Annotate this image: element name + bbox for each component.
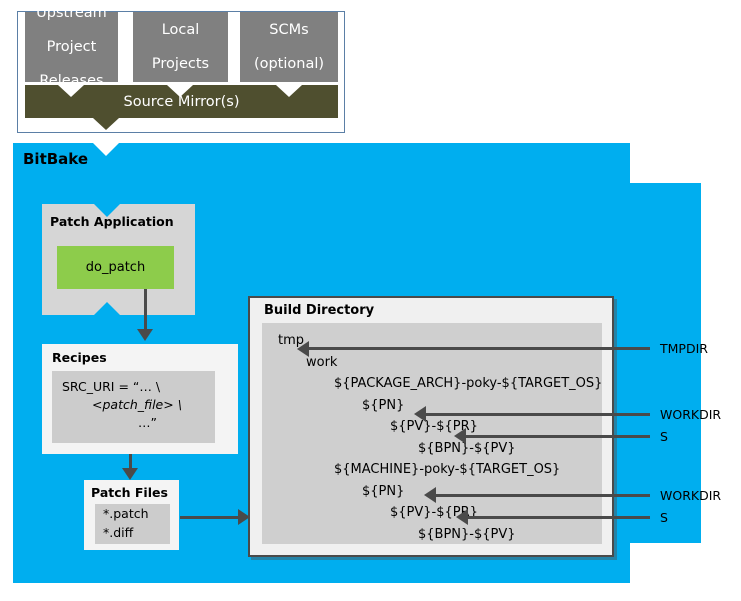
tree-node-package-arch: ${PACKAGE_ARCH}-poky-${TARGET_OS}	[262, 373, 602, 395]
recipes-src-uri-snippet: SRC_URI = “… \ <patch_file> \ …”	[52, 371, 215, 443]
diagram-canvas: Upstream Project Releases Local Projects…	[0, 0, 741, 601]
arrow-left-icon	[456, 509, 468, 525]
patch-files-list: *.patch *.diff	[95, 504, 170, 544]
chevron-notch-icon	[58, 85, 84, 97]
recipes-code-line: SRC_URI = “… \	[52, 378, 215, 396]
source-box-local-projects: Local Projects	[133, 12, 228, 82]
source-box-line: Projects	[152, 56, 209, 73]
annotation-line	[300, 347, 650, 350]
arrow-down-icon	[122, 468, 138, 480]
chevron-notch-icon	[276, 85, 302, 97]
tree-node-bpn-pv: ${BPN}-${PV}	[262, 524, 602, 546]
source-box-scms-optional: SCMs (optional)	[240, 12, 338, 82]
tree-node-machine: ${MACHINE}-poky-${TARGET_OS}	[262, 459, 602, 481]
do-patch-task[interactable]: do_patch	[57, 246, 174, 289]
source-box-line: Upstream	[36, 5, 107, 22]
list-item: *.diff	[103, 523, 170, 542]
tree-node-pv-pr: ${PV}-${PR}	[262, 502, 602, 524]
annotation-label-workdir: WORKDIR	[660, 488, 721, 503]
arrow-left-icon	[424, 487, 436, 503]
recipes-code-line: …”	[52, 414, 215, 432]
annotation-label-tmpdir: TMPDIR	[660, 341, 708, 356]
patch-files-title: Patch Files	[91, 485, 168, 500]
bitbake-label: BitBake	[23, 150, 88, 168]
arrow-down-icon	[137, 329, 153, 341]
patch-application-title: Patch Application	[50, 214, 174, 229]
annotation-label-s: S	[660, 510, 668, 525]
mirror-to-bitbake-arrow-icon	[93, 118, 119, 130]
chevron-notch-icon	[167, 85, 193, 97]
tree-node-work: work	[262, 352, 602, 374]
recipes-code-line: <patch_file> \	[52, 396, 215, 414]
connector-line	[144, 289, 147, 331]
arrow-left-icon	[297, 341, 309, 357]
annotation-line	[420, 413, 650, 416]
connector-line	[180, 516, 240, 519]
build-directory-tree: tmp work ${PACKAGE_ARCH}-poky-${TARGET_O…	[262, 323, 602, 544]
annotation-line	[460, 435, 650, 438]
recipes-title: Recipes	[52, 350, 107, 365]
do-patch-label: do_patch	[86, 260, 145, 275]
source-box-line: Local	[152, 22, 209, 39]
chevron-notch-icon	[93, 143, 119, 156]
source-box-upstream-project-releases: Upstream Project Releases	[25, 12, 118, 82]
arrow-left-icon	[414, 406, 426, 422]
source-box-line: SCMs	[254, 22, 324, 39]
annotation-line	[430, 494, 650, 497]
annotation-label-s: S	[660, 429, 668, 444]
annotation-label-workdir: WORKDIR	[660, 407, 721, 422]
tree-node-bpn-pv: ${BPN}-${PV}	[262, 438, 602, 460]
list-item: *.patch	[103, 504, 170, 523]
source-box-line: Project	[36, 39, 107, 56]
build-directory-title: Build Directory	[264, 303, 374, 318]
arrow-left-icon	[454, 428, 466, 444]
annotation-line	[462, 516, 650, 519]
source-box-line: (optional)	[254, 56, 324, 73]
